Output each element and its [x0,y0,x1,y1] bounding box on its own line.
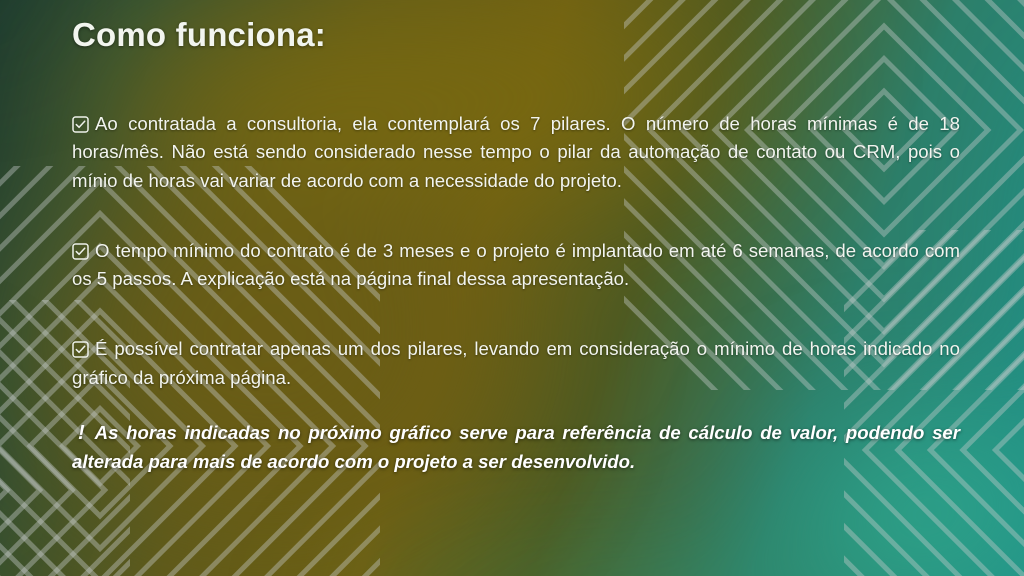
slide-canvas: Como funciona: Ao contratada a consultor… [0,0,1024,576]
note-text-tail: desenvolvido. [511,451,635,472]
block-spacer [72,221,960,237]
bullet-text-tail: apresentação. [511,268,629,289]
bullet-item: É possível contratar apenas um dos pilar… [72,335,960,392]
bullet-list: Ao contratada a consultoria, ela contemp… [72,110,960,476]
bullet-item: Ao contratada a consultoria, ela contemp… [72,110,960,195]
bullet-item: O tempo mínimo do contrato é de 3 meses … [72,237,960,294]
block-spacer [72,319,960,335]
checkbox-checked-icon [72,243,89,260]
bullet-text-tail: necessidade do projeto. [424,170,621,191]
slide-content: Como funciona: Ao contratada a consultor… [0,0,1024,576]
warning-note: !As horas indicadas no próximo gráfico s… [72,418,960,477]
exclamation-icon: ! [78,418,85,448]
checkbox-checked-icon [72,341,89,358]
bullet-text: É possível contratar apenas um dos pilar… [95,338,775,359]
page-title: Como funciona: [72,16,326,54]
checkbox-checked-icon [72,116,89,133]
